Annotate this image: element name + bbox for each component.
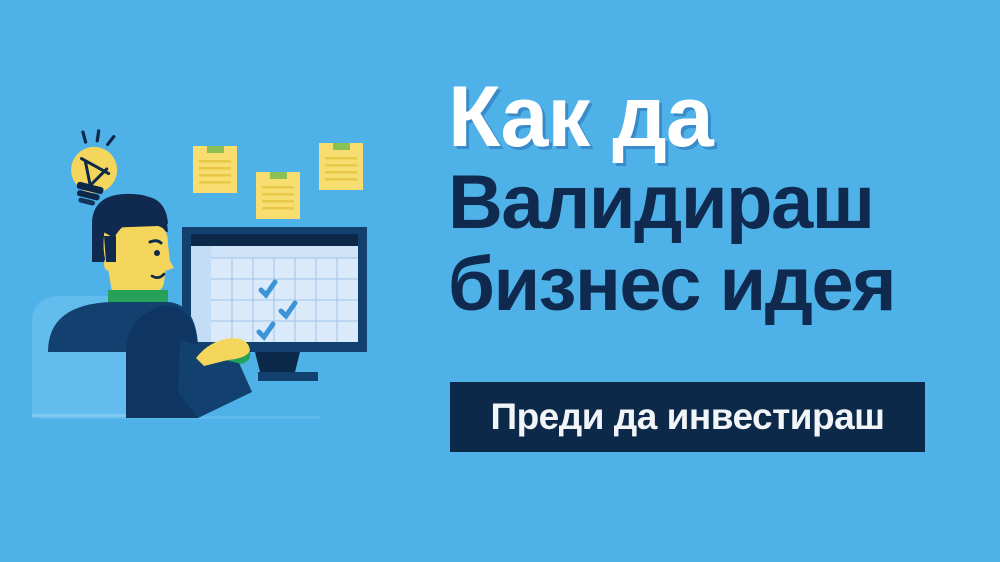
- headline-kicker: Как да: [448, 70, 978, 164]
- note-card: [319, 143, 363, 190]
- note-card: [256, 172, 300, 219]
- person-collar: [108, 290, 168, 304]
- headline-main: Валидираш бизнес идея: [448, 162, 978, 326]
- person-sideburn: [104, 236, 116, 262]
- headline-line-1: Валидираш: [448, 160, 874, 245]
- lightbulb-rays: [81, 127, 114, 148]
- illustration-person-at-computer: [0, 0, 430, 562]
- monitor-stand: [255, 352, 300, 372]
- subtitle-badge-label: Преди да инвестираш: [490, 396, 884, 438]
- poster-canvas: Как да Валидираш бизнес идея Преди да ин…: [0, 0, 1000, 562]
- illustration-svg: [0, 0, 430, 562]
- headline-block: Как да Валидираш бизнес идея Преди да ин…: [440, 70, 980, 470]
- monitor-base: [258, 372, 318, 381]
- screen-header-row: [211, 246, 358, 258]
- headline-line-2: бизнес идея: [448, 244, 978, 326]
- person-eye: [154, 250, 160, 256]
- monitor-titlebar: [191, 234, 358, 246]
- subtitle-badge: Преди да инвестираш: [450, 382, 925, 452]
- note-card: [193, 146, 237, 193]
- person-nose: [165, 254, 174, 271]
